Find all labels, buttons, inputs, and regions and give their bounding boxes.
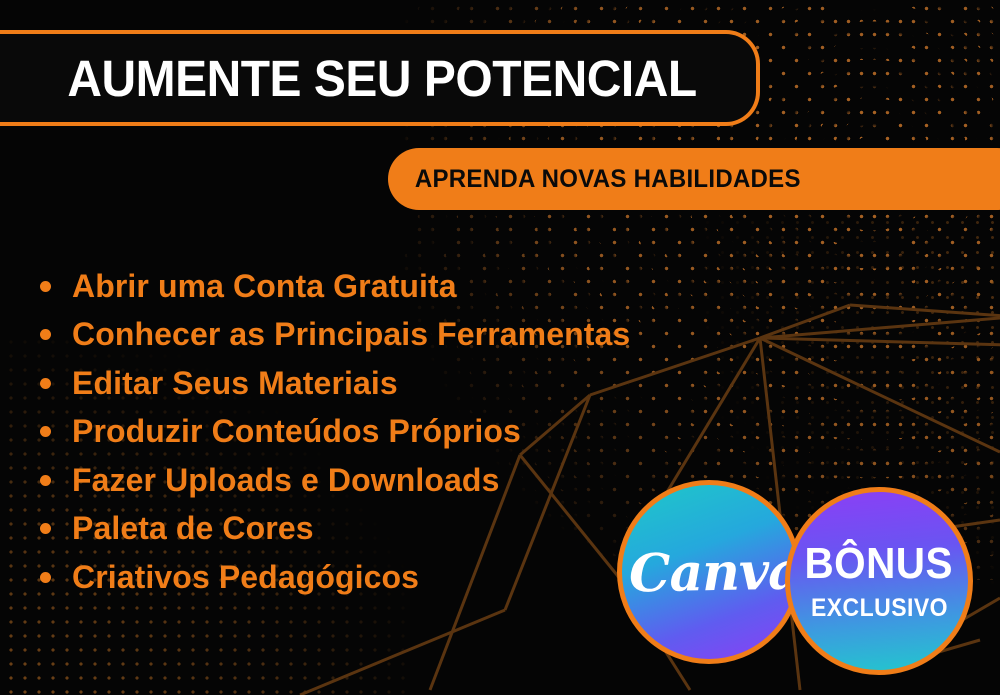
page-title: AUMENTE SEU POTENCIAL [0, 49, 697, 108]
bullet-dot-icon [40, 475, 51, 486]
bullet-dot-icon [40, 329, 51, 340]
promo-poster: AUMENTE SEU POTENCIAL APRENDA NOVAS HABI… [0, 0, 1000, 695]
list-item-label: Produzir Conteúdos Próprios [72, 413, 521, 450]
subtitle-banner: APRENDA NOVAS HABILIDADES [388, 148, 1000, 210]
list-item-label: Criativos Pedagógicos [72, 559, 419, 596]
bonus-title: BÔNUS [805, 542, 953, 586]
bullet-dot-icon [40, 378, 51, 389]
bonus-subtitle: EXCLUSIVO [810, 596, 947, 621]
bonus-badge: BÔNUS EXCLUSIVO [785, 487, 973, 675]
canva-wordmark: Canva [629, 540, 802, 604]
list-item-label: Abrir uma Conta Gratuita [72, 268, 457, 305]
bullet-dot-icon [40, 281, 51, 292]
list-item: Abrir uma Conta Gratuita [40, 262, 630, 311]
list-item: Conhecer as Principais Ferramentas [40, 311, 630, 360]
list-item: Editar Seus Materiais [40, 359, 630, 408]
list-item-label: Editar Seus Materiais [72, 365, 398, 402]
title-banner: AUMENTE SEU POTENCIAL [0, 30, 760, 126]
feature-list: Abrir uma Conta Gratuita Conhecer as Pri… [40, 262, 630, 602]
list-item: Paleta de Cores [40, 505, 630, 554]
list-item-label: Conhecer as Principais Ferramentas [72, 316, 630, 353]
subtitle-text: APRENDA NOVAS HABILIDADES [388, 165, 801, 194]
canva-logo-badge: Canva [617, 480, 801, 664]
bullet-dot-icon [40, 572, 51, 583]
list-item: Criativos Pedagógicos [40, 553, 630, 602]
bullet-dot-icon [40, 523, 51, 534]
bullet-dot-icon [40, 426, 51, 437]
list-item: Fazer Uploads e Downloads [40, 456, 630, 505]
list-item-label: Fazer Uploads e Downloads [72, 462, 499, 499]
list-item-label: Paleta de Cores [72, 510, 314, 547]
list-item: Produzir Conteúdos Próprios [40, 408, 630, 457]
